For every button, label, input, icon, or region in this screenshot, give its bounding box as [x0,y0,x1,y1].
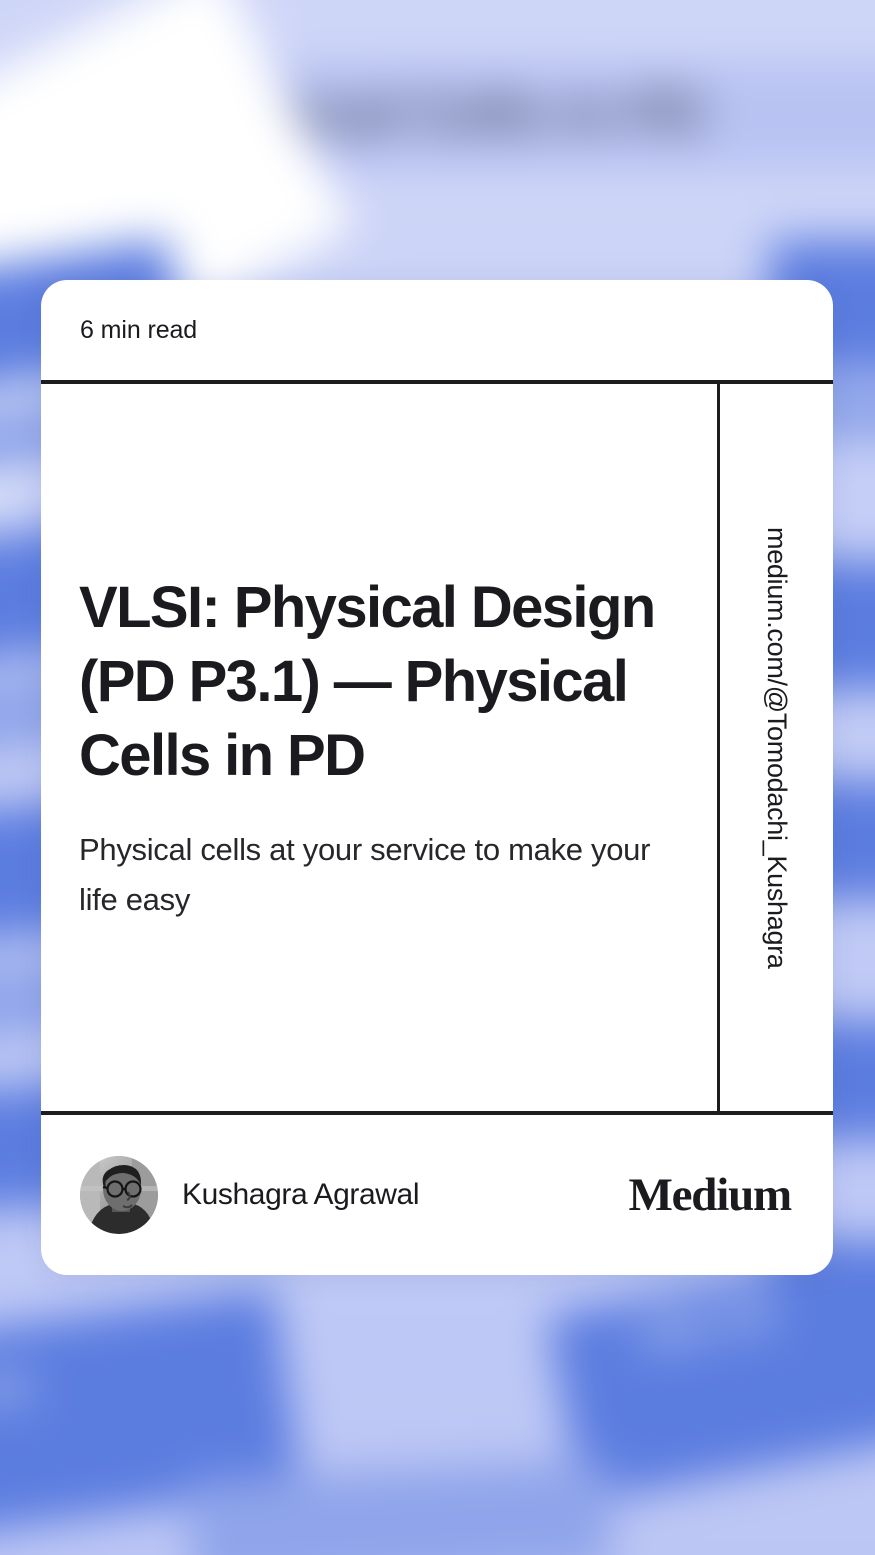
card-footer: Kushagra Agrawal Medium [41,1115,833,1275]
article-url[interactable]: medium.com/@Tomodachi_Kushagra [761,527,792,969]
author-photo-icon [80,1156,158,1234]
avatar[interactable] [80,1156,158,1234]
card-meta-strip: 6 min read [41,280,833,384]
card-main-column: VLSI: Physical Design (PD P3.1) — Physic… [41,384,720,1111]
card-body: VLSI: Physical Design (PD P3.1) — Physic… [41,384,833,1115]
article-url-rail: medium.com/@Tomodachi_Kushagra [720,384,833,1111]
article-subtitle: Physical cells at your service to make y… [79,825,679,924]
author-name[interactable]: Kushagra Agrawal [182,1178,419,1212]
read-time-label: 6 min read [80,316,197,345]
medium-wordmark: Medium [628,1168,791,1222]
article-title: VLSI: Physical Design (PD P3.1) — Physic… [79,571,679,794]
article-card[interactable]: 6 min read VLSI: Physical Design (PD P3.… [41,280,833,1275]
